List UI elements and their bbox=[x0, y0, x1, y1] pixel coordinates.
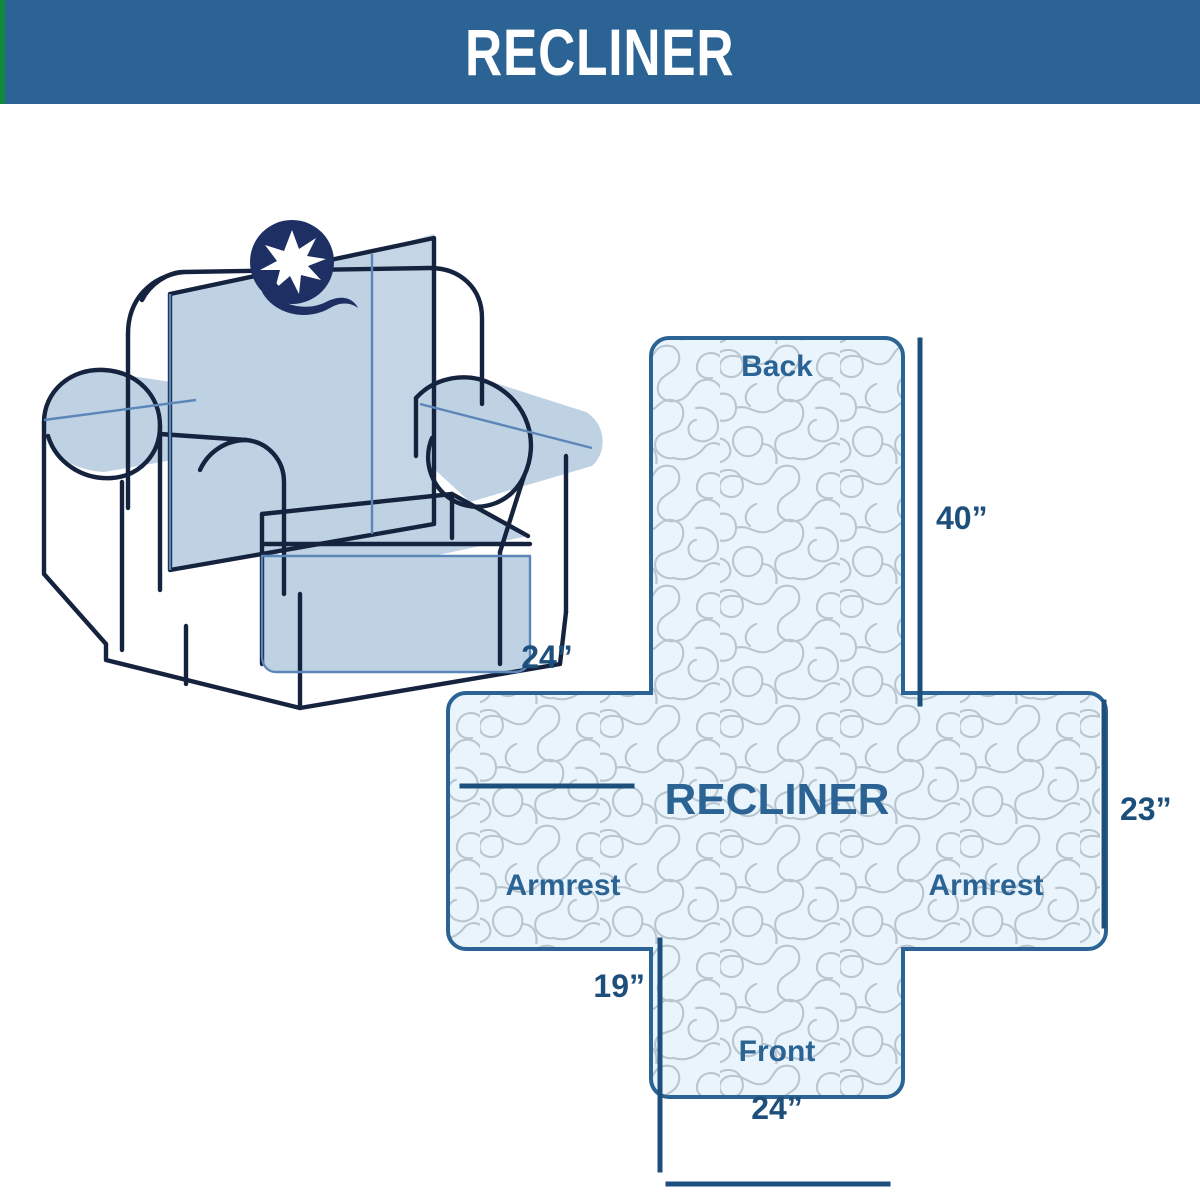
pattern-center-label: RECLINER bbox=[665, 775, 890, 824]
diagram-canvas: Back Armrest Armrest Front RECLINER 40” … bbox=[0, 104, 1200, 1200]
dimension-label-armrest-height: 23” bbox=[1120, 791, 1172, 827]
chair-illustration bbox=[44, 168, 603, 708]
dimension-label-back-height: 40” bbox=[936, 500, 988, 536]
panel-label-armrest-left: Armrest bbox=[505, 869, 620, 902]
panel-label-back: Back bbox=[741, 350, 813, 383]
header-bar: RECLINER bbox=[0, 0, 1200, 104]
dimension-label-front-height: 19” bbox=[593, 968, 645, 1004]
header-accent-stripe bbox=[0, 0, 5, 104]
panel-label-front: Front bbox=[739, 1035, 816, 1068]
page-title: RECLINER bbox=[465, 19, 734, 85]
dimension-label-front-width: 24” bbox=[751, 1090, 803, 1126]
diagram-stage: Back Armrest Armrest Front RECLINER 40” … bbox=[0, 104, 1200, 1200]
dimension-label-back-width: 24” bbox=[521, 639, 573, 675]
panel-label-armrest-right: Armrest bbox=[928, 869, 1043, 902]
product-size-chart-page: RECLINER bbox=[0, 0, 1200, 1200]
